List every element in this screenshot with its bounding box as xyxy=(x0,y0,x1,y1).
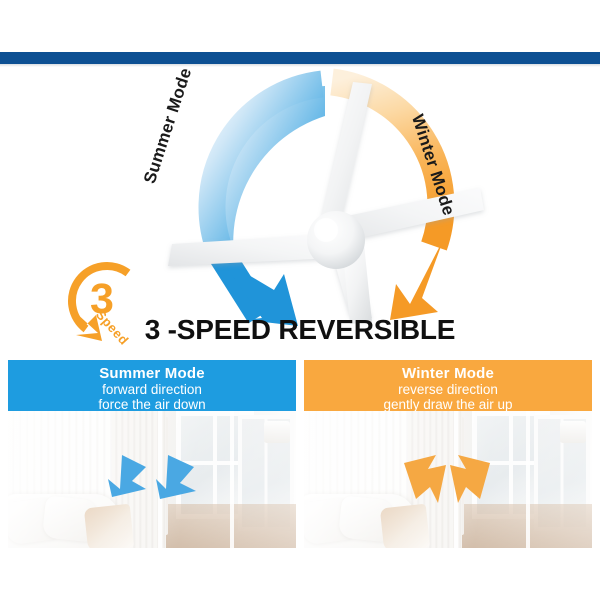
summer-banner-title: Summer Mode xyxy=(8,365,296,382)
fan-direction-diagram: Summer Mode Winter Mode xyxy=(150,68,490,326)
airflow-arrow-down-right xyxy=(156,455,196,499)
top-accent-bar-shadow xyxy=(0,64,600,67)
summer-mode-panel: Summer Mode forward direction force the … xyxy=(8,360,296,548)
top-accent-bar xyxy=(0,52,600,64)
winter-mode-banner: Winter Mode reverse direction gently dra… xyxy=(304,360,592,411)
product-infographic: Summer Mode Winter Mode 3 Speed 3 -SPEED… xyxy=(0,0,600,600)
winter-banner-line2: gently draw the air up xyxy=(304,397,592,412)
winter-airflow-arrows xyxy=(304,411,592,548)
winter-banner-line1: reverse direction xyxy=(304,382,592,397)
winter-mode-panel: Winter Mode reverse direction gently dra… xyxy=(304,360,592,548)
summer-banner-line2: force the air down xyxy=(8,397,296,412)
fan-hub xyxy=(307,211,365,269)
summer-banner-line1: forward direction xyxy=(8,382,296,397)
summer-mode-banner: Summer Mode forward direction force the … xyxy=(8,360,296,411)
page-title: 3 -SPEED REVERSIBLE xyxy=(0,314,600,346)
airflow-arrow-up-right xyxy=(450,455,490,503)
fan-hub-highlight xyxy=(314,218,338,242)
summer-room-photo xyxy=(8,411,296,548)
winter-banner-title: Winter Mode xyxy=(304,365,592,382)
airflow-arrow-down-left xyxy=(108,455,146,497)
summer-airflow-arrows xyxy=(8,411,296,548)
winter-arrow-head xyxy=(390,234,444,320)
winter-room-photo xyxy=(304,411,592,548)
airflow-arrow-up-left xyxy=(404,455,446,503)
